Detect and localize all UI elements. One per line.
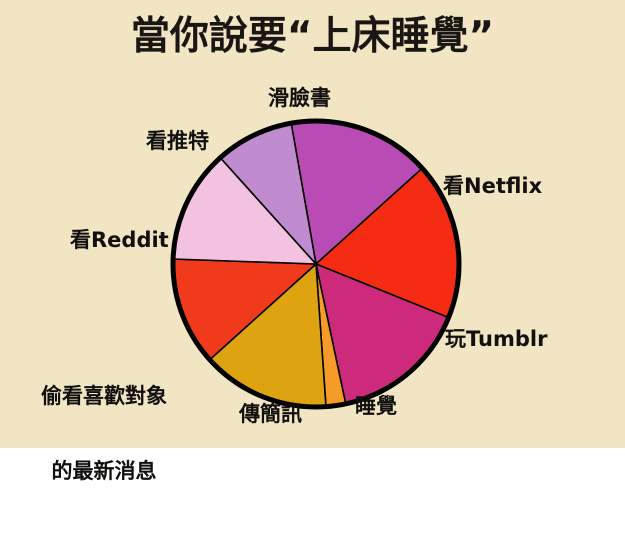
slice-label-texting: 傳簡訊: [239, 402, 302, 427]
slice-label-sleep: 睡覺: [355, 394, 397, 419]
slice-label-facebook: 滑臉書: [268, 86, 331, 111]
slice-label-crush: 偷看喜歡對象 的最新消息: [41, 334, 167, 534]
slice-label-crush-line1: 偷看喜歡對象: [41, 384, 167, 409]
slice-label-tumblr: 玩Tumblr: [445, 327, 547, 352]
slice-label-twitter: 看推特: [146, 129, 209, 154]
slice-label-reddit: 看Reddit: [70, 228, 169, 253]
slice-label-crush-line2: 的最新消息: [41, 459, 167, 484]
slice-label-netflix: 看Netflix: [443, 174, 542, 199]
pie-chart-page: 當你說要“上床睡覺” 滑臉書 看Netflix 玩Tumblr 睡覺 傳簡訊 偷…: [0, 0, 625, 448]
